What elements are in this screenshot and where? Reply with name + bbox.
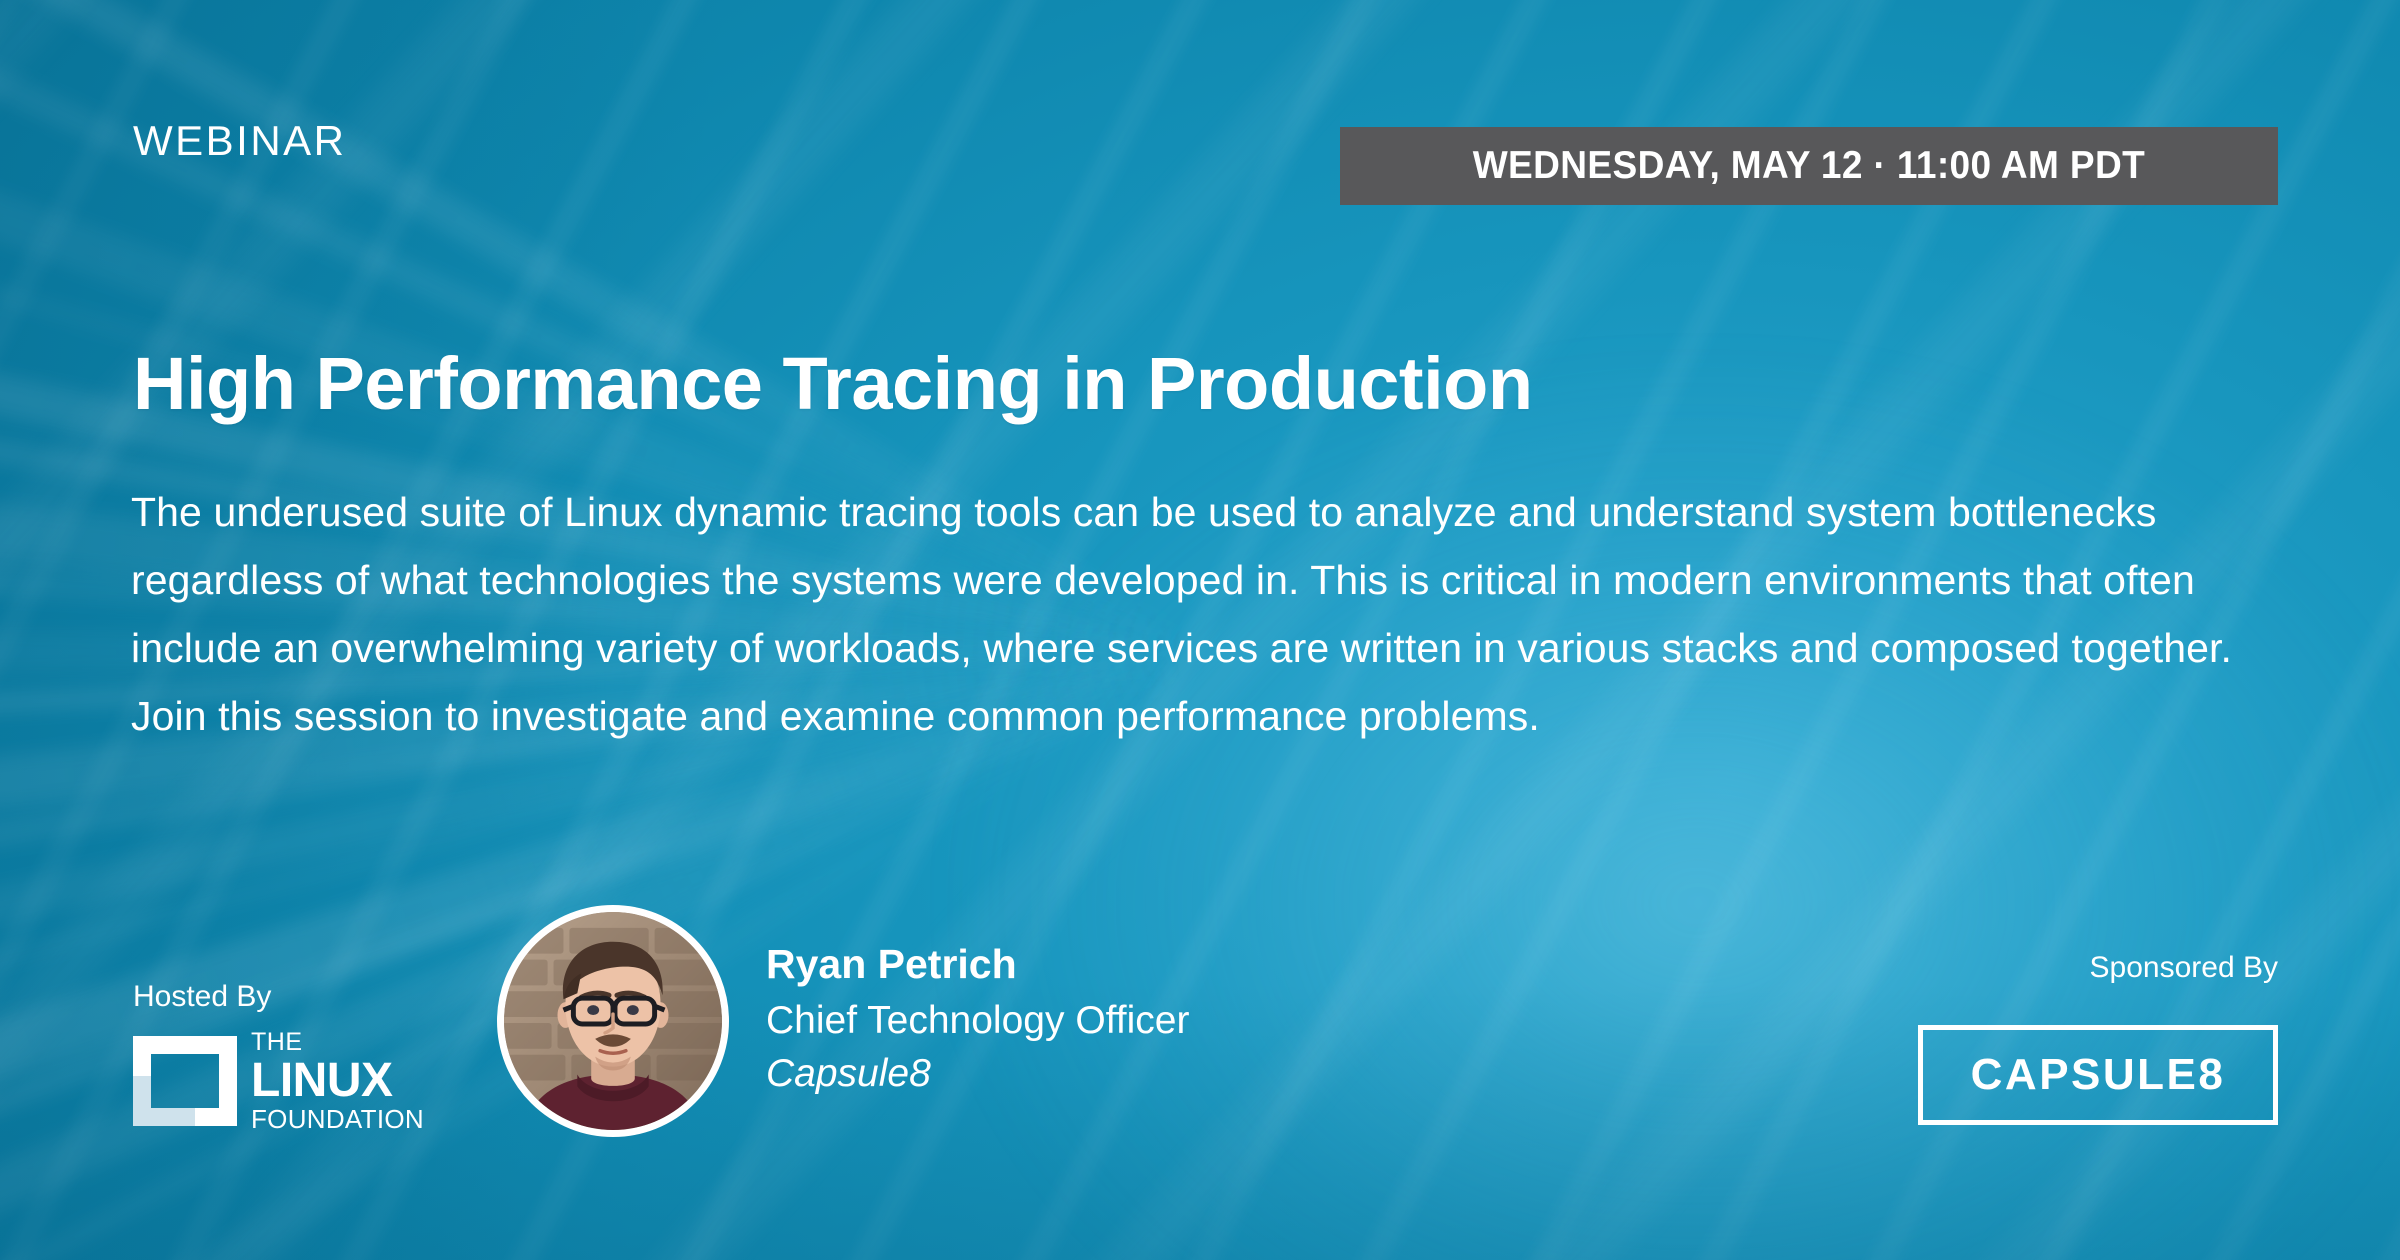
speaker-company: Capsule8 bbox=[766, 1054, 1189, 1093]
capsule8-logo: CAPSULE8 bbox=[1918, 1025, 2278, 1125]
description-paragraph: The underused suite of Linux dynamic tra… bbox=[131, 478, 2311, 750]
avatar bbox=[497, 905, 729, 1137]
linux-foundation-wordmark: THE LINUX FOUNDATION bbox=[251, 1030, 424, 1132]
linux-foundation-logo: THE LINUX FOUNDATION bbox=[133, 1030, 424, 1132]
date-time-badge: WEDNESDAY, MAY 12 · 11:00 AM PDT bbox=[1340, 127, 2278, 205]
date-time-text: WEDNESDAY, MAY 12 · 11:00 AM PDT bbox=[1473, 144, 2145, 188]
page-title: High Performance Tracing in Production bbox=[133, 345, 1533, 423]
hosted-by-block: Hosted By THE LINUX FOUNDATION bbox=[133, 982, 424, 1132]
webinar-promo-poster: WEBINAR WEDNESDAY, MAY 12 · 11:00 AM PDT… bbox=[0, 0, 2400, 1260]
lf-word-linux: LINUX bbox=[251, 1057, 424, 1105]
lf-word-foundation: FOUNDATION bbox=[251, 1106, 424, 1132]
sponsored-by-label: Sponsored By bbox=[2090, 953, 2278, 983]
speaker-headshot-image bbox=[504, 912, 722, 1130]
hosted-by-label: Hosted By bbox=[133, 982, 424, 1012]
speaker-role: Chief Technology Officer bbox=[766, 1001, 1189, 1040]
lf-word-the: THE bbox=[251, 1030, 424, 1055]
speaker-info: Ryan Petrich Chief Technology Officer Ca… bbox=[766, 944, 1189, 1093]
speaker-name: Ryan Petrich bbox=[766, 944, 1189, 985]
kicker-label: WEBINAR bbox=[133, 120, 347, 162]
capsule8-wordmark: CAPSULE8 bbox=[1971, 1050, 2226, 1100]
poster-content: WEBINAR WEDNESDAY, MAY 12 · 11:00 AM PDT… bbox=[0, 0, 2400, 1260]
linux-foundation-mark-icon bbox=[133, 1036, 237, 1126]
